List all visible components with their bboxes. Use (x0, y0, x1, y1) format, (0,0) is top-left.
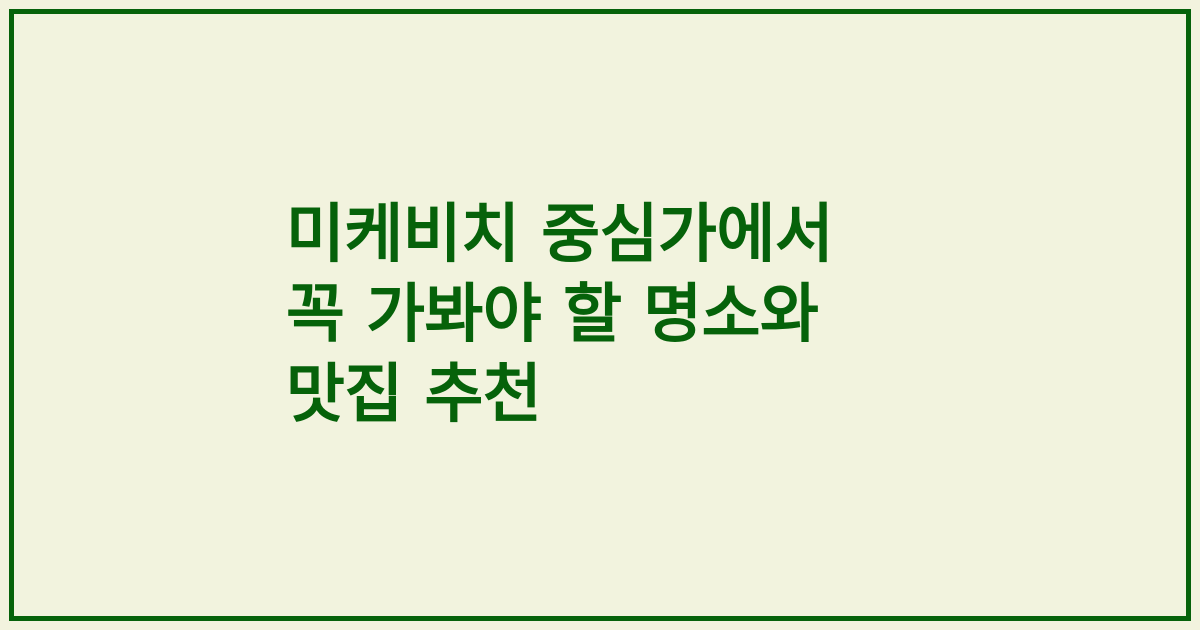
title-card: 미케비치 중심가에서 꼭 가봐야 할 명소와 맛집 추천 (0, 0, 1200, 630)
title-area: 미케비치 중심가에서 꼭 가봐야 할 명소와 맛집 추천 (0, 0, 1200, 630)
page-title: 미케비치 중심가에서 꼭 가봐야 할 명소와 맛집 추천 (286, 195, 833, 435)
